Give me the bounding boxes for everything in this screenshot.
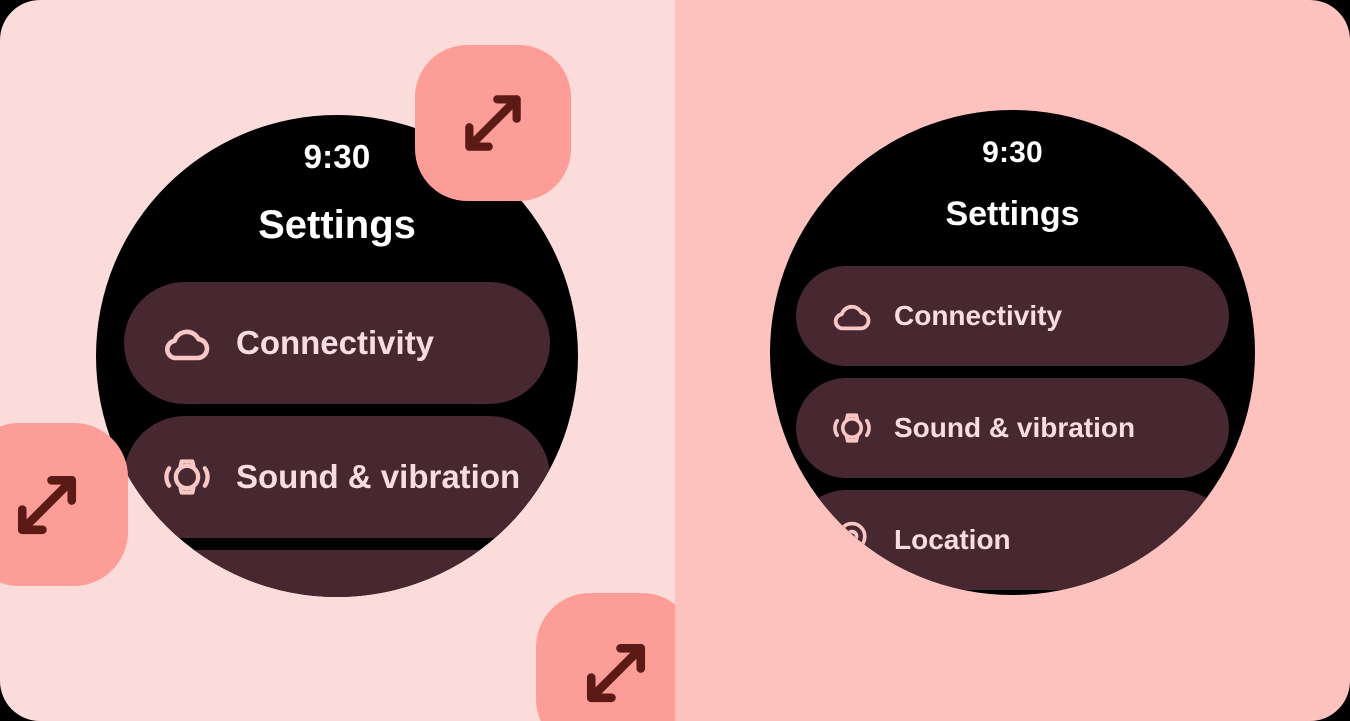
expand-diagonal-icon <box>571 628 661 718</box>
cloud-icon <box>158 314 216 372</box>
page-title: Settings <box>770 195 1255 234</box>
cloud-icon <box>828 292 876 340</box>
page-title: Settings <box>96 203 578 248</box>
list-item-connectivity[interactable]: Connectivity <box>796 266 1229 366</box>
watch-vibration-icon <box>828 404 876 452</box>
list-item-location[interactable]: Location <box>796 490 1229 590</box>
list-item-sound-vibration[interactable]: Sound & vibration <box>796 378 1229 478</box>
watch-preview-right: 9:30 Settings Connectivity <box>770 110 1255 595</box>
expand-diagonal-icon <box>450 80 536 166</box>
list-item-label: Sound & vibration <box>236 459 520 496</box>
list-item-label: Connectivity <box>236 325 434 362</box>
expand-badge-top-right[interactable] <box>415 45 571 201</box>
watch-vibration-icon <box>158 448 216 506</box>
watch-status-time: 9:30 <box>770 136 1255 170</box>
location-pin-icon <box>828 516 876 564</box>
list-item-connectivity[interactable]: Connectivity <box>124 282 550 404</box>
expand-badge-left[interactable] <box>0 423 128 586</box>
list-item-label: Sound & vibration <box>894 412 1135 443</box>
list-item-label: Connectivity <box>894 300 1062 331</box>
list-item-partial[interactable] <box>124 550 550 597</box>
expand-badge-bottom[interactable] <box>536 593 675 721</box>
settings-list: Connectivity Sound & vibration <box>770 266 1255 595</box>
expand-diagonal-icon <box>2 460 92 550</box>
settings-list: Connectivity Sound & vibration <box>96 282 578 597</box>
list-item-sound-vibration[interactable]: Sound & vibration <box>124 416 550 538</box>
list-item-label: Location <box>894 524 1011 555</box>
left-panel: 9:30 Settings Connectivity <box>0 0 675 721</box>
right-panel: 9:30 Settings Connectivity <box>675 0 1350 721</box>
comparison-figure: 9:30 Settings Connectivity <box>0 0 1350 721</box>
